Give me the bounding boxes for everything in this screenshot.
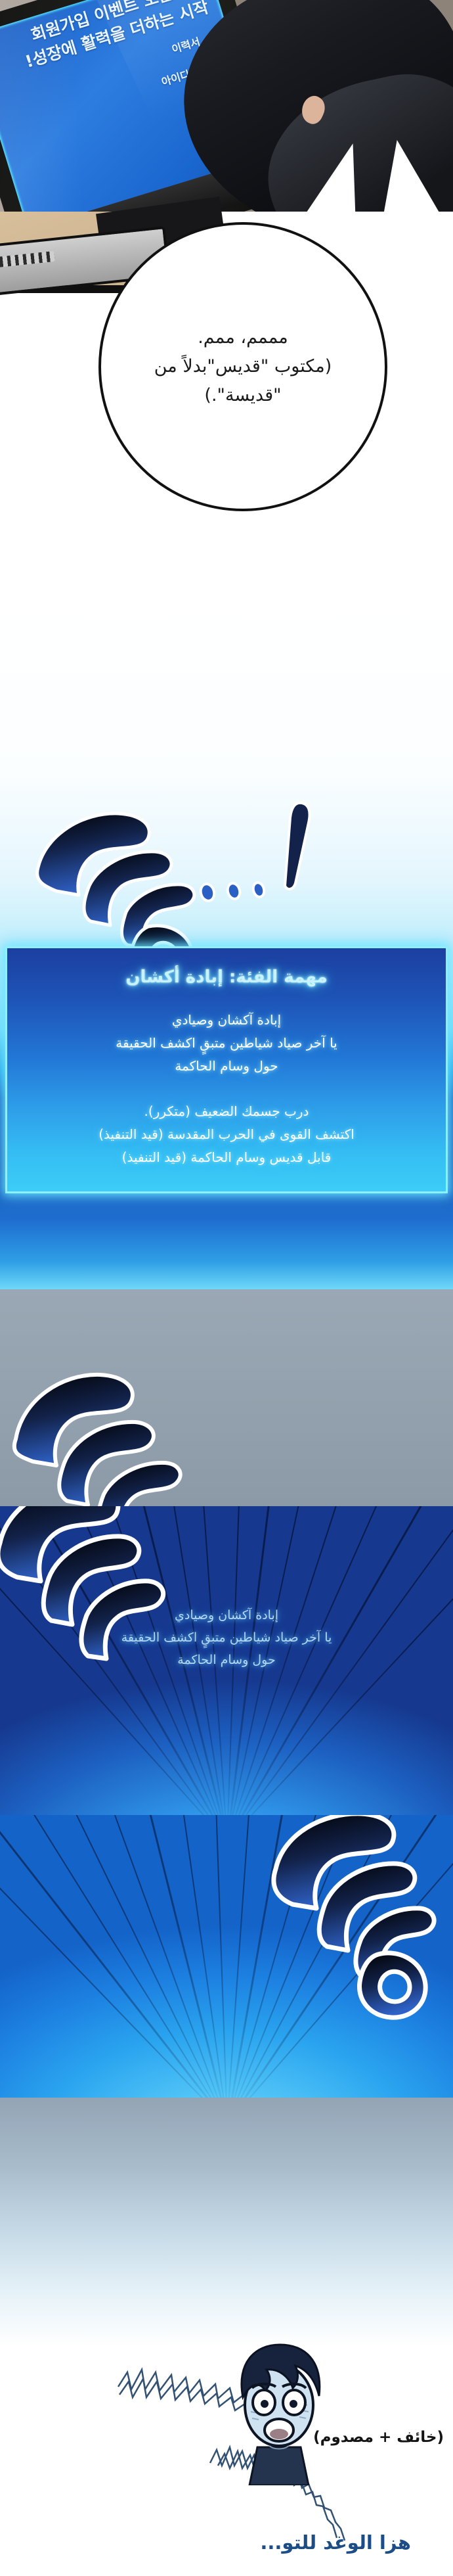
sfx-exclamation-mark <box>273 800 319 906</box>
quest-title: مهمة الفئة: إبادة أكشان <box>23 967 430 989</box>
quest-echo-objective: يا آخر صياد شياطين متبقٍ اكشف الحقيقة <box>0 1627 453 1649</box>
quest-body: إبادة آكشان وصيادي يا آخر صياد شياطين مت… <box>23 1009 430 1169</box>
panel-burst-rewards: درب جسمك الضعيف (متكرر). اكتشف القوى في … <box>0 1815 453 2098</box>
quest-objective: إبادة آكشان وصيادي <box>23 1009 430 1032</box>
quest-echo-text: إبادة آكشان وصيادي يا آخر صياد شياطين مت… <box>0 1605 453 1671</box>
bubble-line-3: "قديسة".) <box>154 381 332 410</box>
speed-lines <box>0 1815 453 2098</box>
sfx-ellipsis-dots <box>197 869 282 908</box>
shocked-character <box>217 2334 341 2485</box>
panel-grey-transition <box>0 1289 453 1506</box>
panel-shock-reaction: (خائف + مصدوم) هزا الوغد للتو... <box>0 2347 453 2576</box>
panel-quest: مهمة الفئة: إبادة أكشان إبادة آكشان وصيا… <box>0 606 453 1289</box>
bubble-line-2: (مكتوب "قديس"بدلاً من <box>154 352 332 381</box>
sfx-brush-stroke <box>7 1362 204 1506</box>
quest-echo-objective: إبادة آكشان وصيادي <box>0 1605 453 1627</box>
webtoon-page: 회원가입 이벤트 오늘부터 성장에 활력을 더하는 시작! 이력서 아이디메일 <box>0 0 453 2576</box>
speech-bubble: مممم، ممم. (مكتوب "قديس"بدلاً من "قديسة"… <box>98 222 387 511</box>
quest-window: مهمة الفئة: إبادة أكشان إبادة آكشان وصيا… <box>5 946 448 1193</box>
quest-reward: قابل قديس وسام الحاكمة (قيد التنفيذ) <box>23 1146 430 1169</box>
quest-reward: درب جسمك الضعيف (متكرر). <box>23 1100 430 1123</box>
quest-objective: يا آخر صياد شياطين متبقٍ اكشف الحقيقة <box>23 1032 430 1055</box>
quest-echo-objective: حول وسام الحاكمة <box>0 1649 453 1672</box>
panel-laptop-coat: 회원가입 이벤트 오늘부터 성장에 활력을 더하는 시작! 이력서 아이디메일 <box>0 0 453 212</box>
quest-reward: اكتشف القوى في الحرب المقدسة (قيد التنفي… <box>23 1123 430 1146</box>
panel-burst-echo: إبادة آكشان وصيادي يا آخر صياد شياطين مت… <box>0 1506 453 1815</box>
emotion-label: (خائف + مصدوم) <box>313 2429 444 2446</box>
quest-spacer <box>23 1078 430 1100</box>
speech-bubble-text: مممم، ممم. (مكتوب "قديس"بدلاً من "قديسة"… <box>119 323 368 409</box>
panel-speech: مممم، ممم. (مكتوب "قديس"بدلاً من "قديسة"… <box>0 212 453 606</box>
ending-line: هزا الوغد للتو... <box>260 2531 411 2554</box>
bubble-line-1: مممم، ممم. <box>154 323 332 352</box>
quest-objective: حول وسام الحاكمة <box>23 1055 430 1078</box>
